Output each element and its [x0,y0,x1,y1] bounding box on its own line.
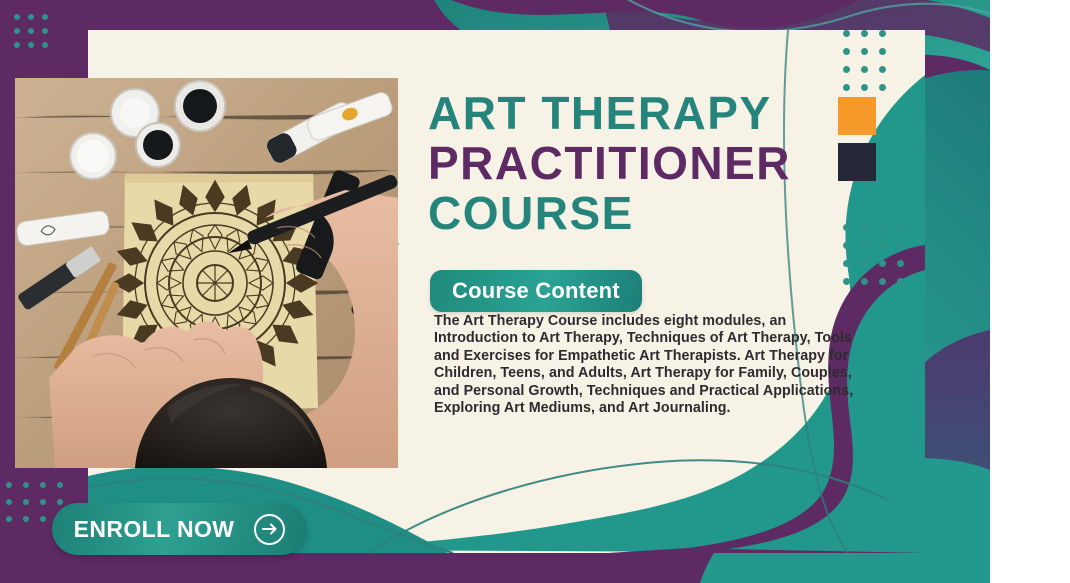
enroll-now-button[interactable]: ENROLL NOW [52,503,307,555]
course-content-heading: Course Content [430,270,642,312]
course-photo [15,78,398,468]
course-content-paragraph: The Art Therapy Course includes eight mo… [434,313,862,417]
page-title: ART THERAPY PRACTITIONER COURSE [428,88,868,238]
orange-square-icon [838,97,876,135]
headline-line-1: ART THERAPY [428,88,868,138]
poster-canvas: ART THERAPY PRACTITIONER COURSE Course C… [0,0,1070,583]
enroll-now-label: ENROLL NOW [74,516,235,543]
dot-grid-top-left [14,14,56,56]
mandala-drawing-photo [15,78,398,468]
headline-line-3: COURSE [428,188,868,238]
arrow-right-circle-icon [254,514,285,545]
dark-navy-square-icon [838,143,876,181]
headline-line-2: PRACTITIONER [428,138,868,188]
